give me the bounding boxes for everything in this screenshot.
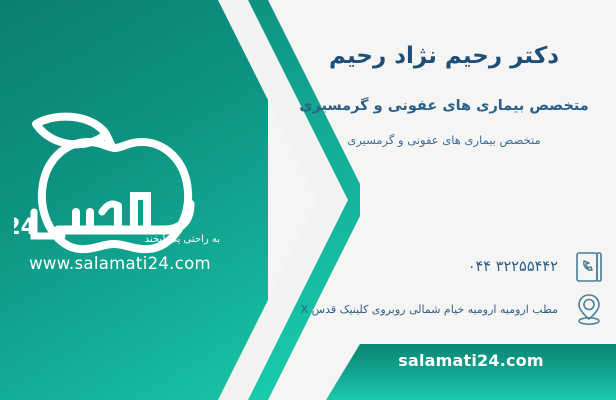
logo-url: www.salamati24.com <box>14 254 226 273</box>
logo-tagline: به راحتی یک لبخند <box>145 234 220 245</box>
address-row: مطب ارومیه ارومیه خیام شمالی روبروی کلین… <box>301 290 608 328</box>
logo-number-24: 24 <box>14 212 62 240</box>
wordmark-alef-lam <box>134 196 147 230</box>
location-pin-icon <box>570 290 608 328</box>
card-content: دکتر رحیم نژاد رحیم متخصص بیماری های عفو… <box>268 0 616 400</box>
footer-bar: salamati24.com <box>326 344 616 400</box>
phone-book-icon <box>570 248 608 286</box>
footer-site-url[interactable]: salamati24.com <box>398 351 544 370</box>
phone-number[interactable]: ۳۲۲۵۵۴۴۲ ۰۴۴ <box>468 259 558 275</box>
wordmark-sin-tail <box>164 204 190 230</box>
leaf-shape <box>36 117 106 145</box>
specialty-primary: متخصص بیماری های عفونی و گرمسیری <box>284 96 604 116</box>
specialty-secondary: متخصص بیماری های عفونی و گرمسیری <box>284 132 604 148</box>
doctor-name: دکتر رحیم نژاد رحیم <box>284 42 604 72</box>
phone-row: ۳۲۲۵۵۴۴۲ ۰۴۴ <box>468 248 608 286</box>
clinic-address[interactable]: مطب ارومیه ارومیه خیام شمالی روبروی کلین… <box>301 303 558 316</box>
business-card: 24 به راحتی یک لبخند www.salamati24.com … <box>0 0 616 400</box>
svg-text:24: 24 <box>14 215 36 240</box>
salamati24-logo: 24 به راحتی یک لبخند www.salamati24.com <box>14 108 226 280</box>
